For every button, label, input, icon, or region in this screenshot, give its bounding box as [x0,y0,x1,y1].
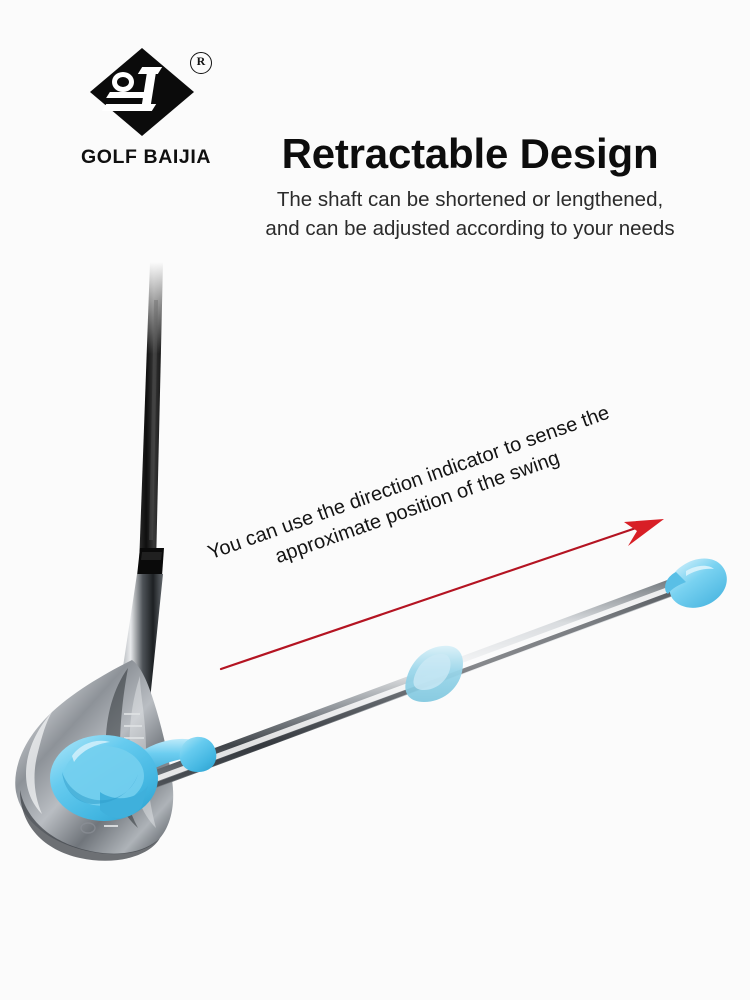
product-feature-image: R GOLF BAIJIA Retractable Design The sha… [0,0,750,1000]
registered-trademark-icon: R [190,52,212,74]
subtitle-line-1: The shaft can be shortened or lengthened… [277,188,663,211]
translucent-blue-slider-bead [405,646,463,702]
annotation-line-1: You can use the direction indicator to s… [205,402,612,564]
club-hosel [118,574,163,700]
logo-glyph-ring [112,72,134,92]
telescopic-steel-direction-rod [150,576,684,788]
chrome-golf-wedge-head [15,660,173,861]
subtitle: The shaft can be shortened or lengthened… [200,185,740,243]
black-golf-shaft [137,262,166,576]
blue-club-face-mount [50,735,216,821]
headline-block: Retractable Design The shaft can be shor… [200,132,740,243]
golf-baijia-diamond-logo-icon: R [82,44,210,140]
annotation-line-2: approximate position of the swing [168,408,667,606]
subtitle-line-2: and can be adjusted according to your ne… [265,217,674,240]
blue-rod-end-cap [665,559,727,608]
page-title: Retractable Design [200,132,740,176]
swing-direction-annotation: You can use the direction indicator to s… [159,384,667,607]
